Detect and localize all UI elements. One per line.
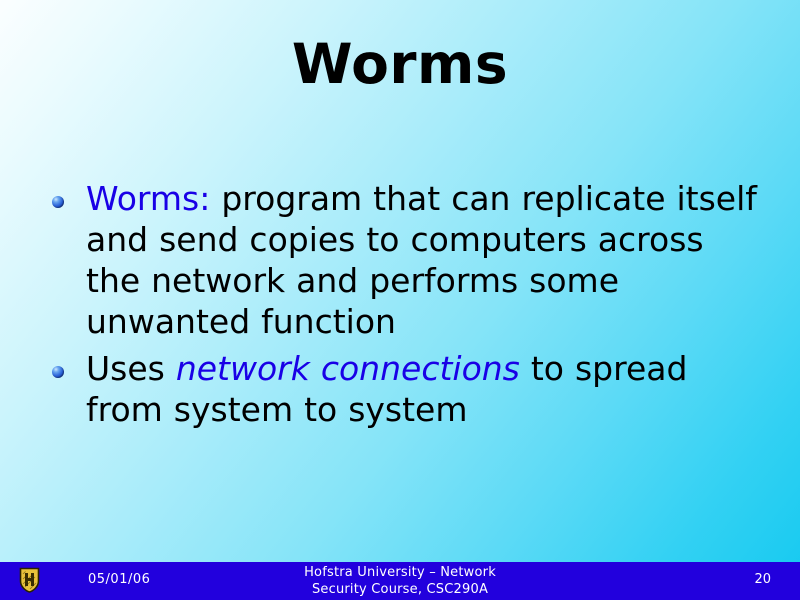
sphere-bullet-icon xyxy=(52,196,64,208)
slide-footer: 05/01/06 Hofstra University – Network Se… xyxy=(0,562,800,600)
slide-body: Worms: program that can replicate itself… xyxy=(52,178,768,436)
bullet-item-1-text: Worms: program that can replicate itself… xyxy=(86,178,768,342)
bullet-1-lead: Worms: xyxy=(86,179,210,218)
bullet-item-1: Worms: program that can replicate itself… xyxy=(52,178,768,342)
footer-page-number: 20 xyxy=(754,572,771,587)
bullet-2-emphasis: network connections xyxy=(176,349,520,388)
footer-course-info: Hofstra University – Network Security Co… xyxy=(0,564,800,598)
bullet-item-2: Uses network connections to spread from … xyxy=(52,348,768,430)
bullet-item-2-text: Uses network connections to spread from … xyxy=(86,348,768,430)
slide-title: Worms xyxy=(0,36,800,94)
footer-course-line-1: Hofstra University – Network xyxy=(0,564,800,581)
sphere-bullet-icon xyxy=(52,366,64,378)
bullet-2-pre: Uses xyxy=(86,349,176,388)
presentation-slide: Worms Worms: program that can replicate … xyxy=(0,0,800,600)
footer-course-line-2: Security Course, CSC290A xyxy=(0,581,800,598)
